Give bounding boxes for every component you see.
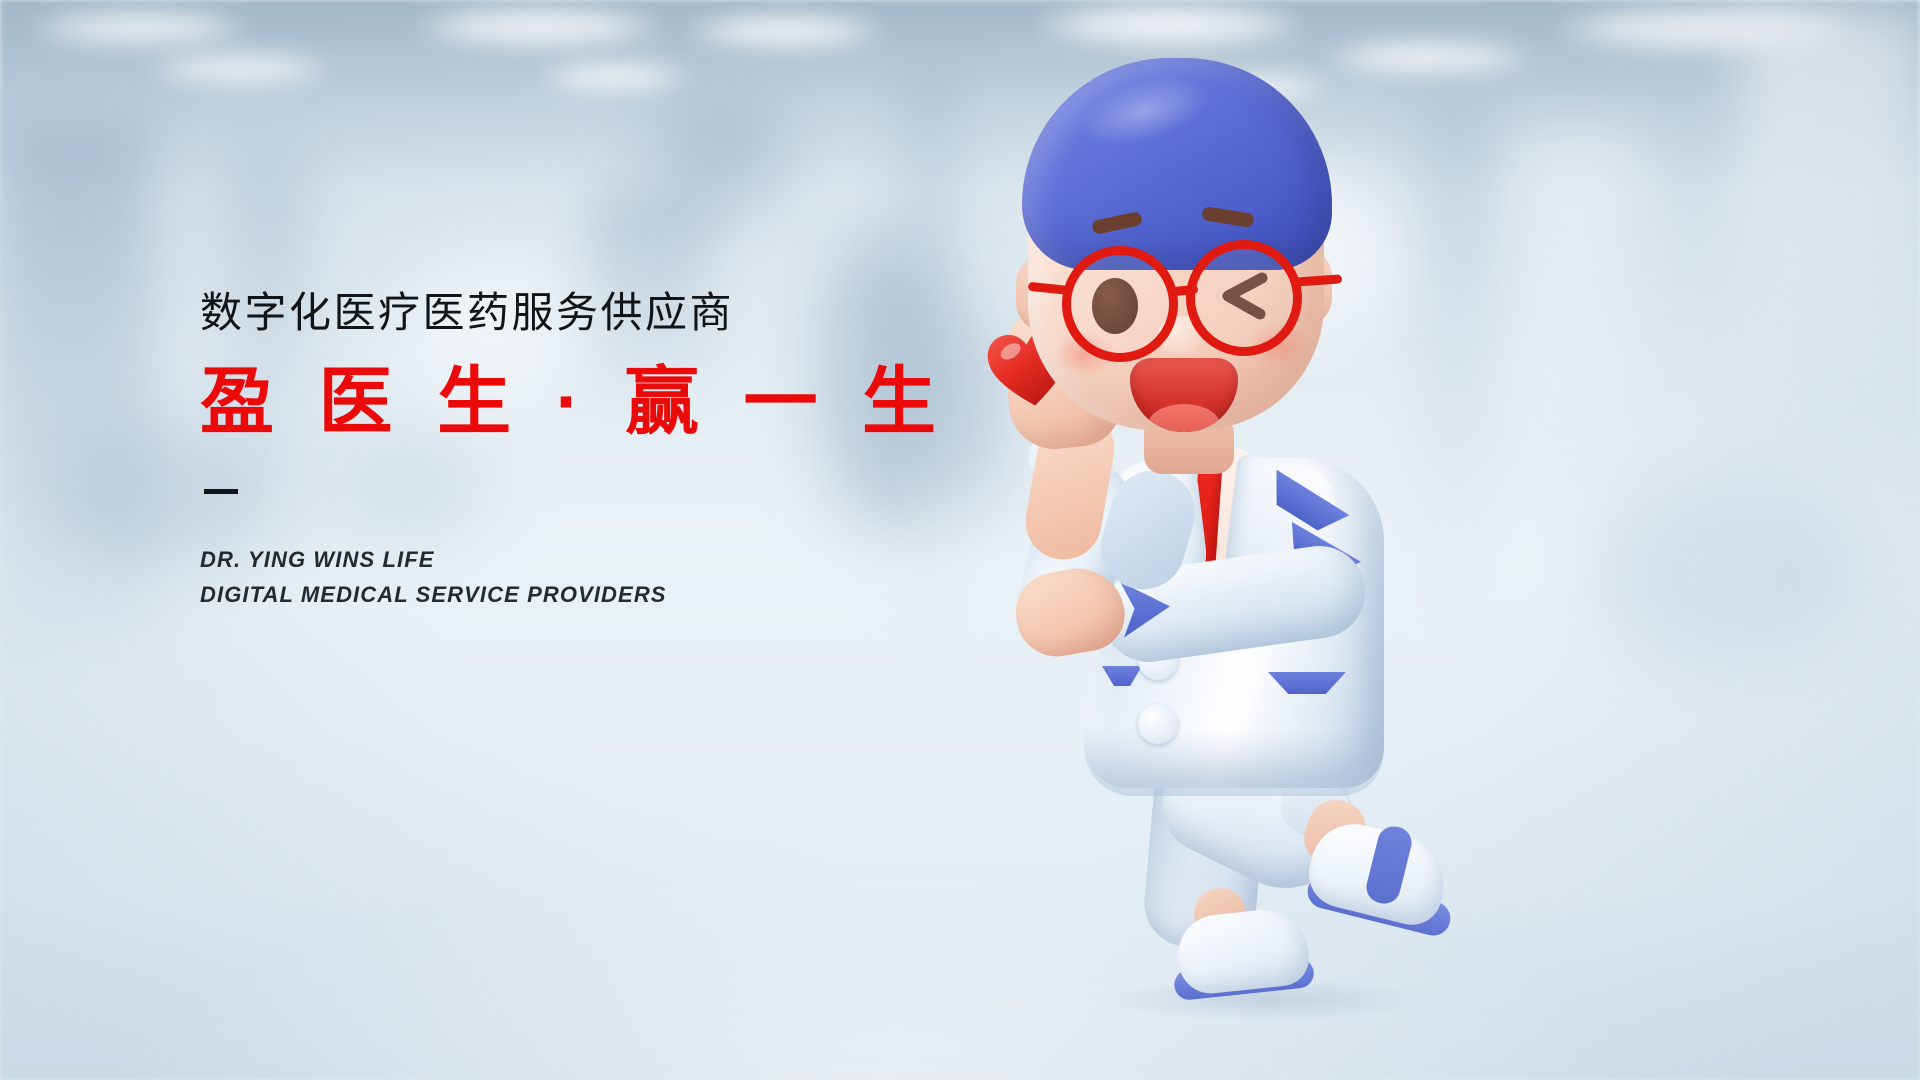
glasses-temple-right [1294, 274, 1343, 286]
hero-headline: 盈 医 生 · 赢 一 生 [200, 358, 1020, 445]
doctor-mascot-illustration [980, 40, 1600, 1060]
hero-copy-block: 数字化医疗医药服务供应商 盈 医 生 · 赢 一 生 DR. YING WINS… [200, 288, 1020, 613]
hero-banner: 数字化医疗医药服务供应商 盈 医 生 · 赢 一 生 DR. YING WINS… [0, 0, 1920, 1080]
glasses-lens-left [1062, 246, 1178, 362]
hero-english-line-2: DIGITAL MEDICAL SERVICE PROVIDERS [200, 577, 1020, 613]
lab-coat-hem [1084, 728, 1384, 796]
divider-rule [204, 489, 238, 494]
hero-kicker: 数字化医疗医药服务供应商 [200, 288, 1020, 338]
coat-button-lower [1138, 704, 1178, 744]
glasses-lens-right [1186, 240, 1302, 356]
hero-english-block: DR. YING WINS LIFE DIGITAL MEDICAL SERVI… [200, 542, 1020, 613]
hero-english-line-1: DR. YING WINS LIFE [200, 542, 1020, 578]
tongue [1148, 404, 1220, 432]
